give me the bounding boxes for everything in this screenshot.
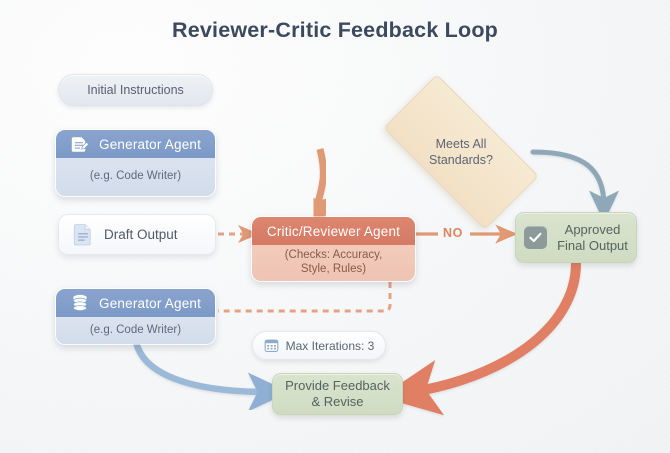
- node-generator-agent-bottom-label: Generator Agent: [99, 296, 201, 311]
- node-provide-feedback-line2: & Revise: [311, 394, 363, 409]
- node-draft-output[interactable]: Draft Output: [58, 214, 216, 255]
- node-provide-feedback-line1: Provide Feedback: [285, 378, 390, 393]
- node-draft-output-label: Draft Output: [104, 227, 178, 242]
- node-decision-meets-standards[interactable]: Meets All Standards?: [389, 114, 533, 190]
- checkbox-checked-icon: [524, 226, 547, 249]
- node-generator-agent-bottom-subtitle: (e.g. Code Writer): [56, 317, 215, 344]
- node-generator-agent-bottom[interactable]: Generator Agent (e.g. Code Writer): [55, 288, 216, 345]
- node-generator-agent-top-label: Generator Agent: [99, 137, 201, 152]
- node-approved-final-output[interactable]: Approved Final Output: [515, 212, 637, 263]
- node-approved-label-line2: Final Output: [557, 238, 628, 253]
- node-critic-agent-subtitle-line1: (Checks: Accuracy,: [285, 249, 383, 261]
- edge-decisionpath-to-critic: [316, 149, 323, 212]
- page-title: Reviewer-Critic Feedback Loop: [0, 18, 670, 43]
- calendar-grid-icon: [264, 338, 279, 353]
- node-generator-agent-top-header: Generator Agent: [56, 130, 215, 158]
- node-critic-agent[interactable]: Critic/Reviewer Agent (Checks: Accuracy,…: [251, 216, 416, 282]
- node-initial-instructions-label: Initial Instructions: [87, 83, 184, 97]
- edge-label-no: NO: [443, 226, 463, 240]
- node-generator-agent-bottom-header: Generator Agent: [56, 289, 215, 317]
- document-icon: [73, 223, 93, 246]
- node-generator-agent-top[interactable]: Generator Agent (e.g. Code Writer): [55, 129, 216, 197]
- node-approved-label-line1: Approved: [565, 222, 621, 237]
- diagram-canvas: Reviewer-Critic Feedback Loop Initial In…: [0, 0, 670, 453]
- database-icon: [69, 293, 90, 314]
- node-max-iterations[interactable]: Max Iterations: 3: [252, 331, 386, 360]
- node-provide-feedback-label: Provide Feedback & Revise: [285, 378, 390, 410]
- node-critic-agent-subtitle-line2: Style, Rules): [301, 263, 366, 275]
- node-generator-agent-top-subtitle: (e.g. Code Writer): [56, 158, 215, 196]
- document-edit-icon: [69, 134, 90, 155]
- node-decision-label: Meets All Standards?: [429, 136, 493, 168]
- node-approved-final-output-label: Approved Final Output: [557, 222, 628, 254]
- node-decision-label-line1: Meets All: [436, 137, 487, 151]
- node-decision-label-line2: Standards?: [429, 153, 493, 167]
- node-critic-agent-header: Critic/Reviewer Agent: [252, 217, 415, 245]
- node-critic-agent-label: Critic/Reviewer Agent: [267, 224, 400, 239]
- edge-approved-to-feedback: [412, 263, 576, 392]
- node-provide-feedback[interactable]: Provide Feedback & Revise: [272, 373, 403, 415]
- edge-decision-to-approved: [533, 152, 604, 206]
- node-initial-instructions[interactable]: Initial Instructions: [58, 74, 213, 106]
- edge-critic-to-generator2-dashed: [218, 282, 390, 311]
- node-max-iterations-label: Max Iterations: 3: [286, 339, 375, 353]
- node-critic-agent-subtitle: (Checks: Accuracy, Style, Rules): [252, 245, 415, 281]
